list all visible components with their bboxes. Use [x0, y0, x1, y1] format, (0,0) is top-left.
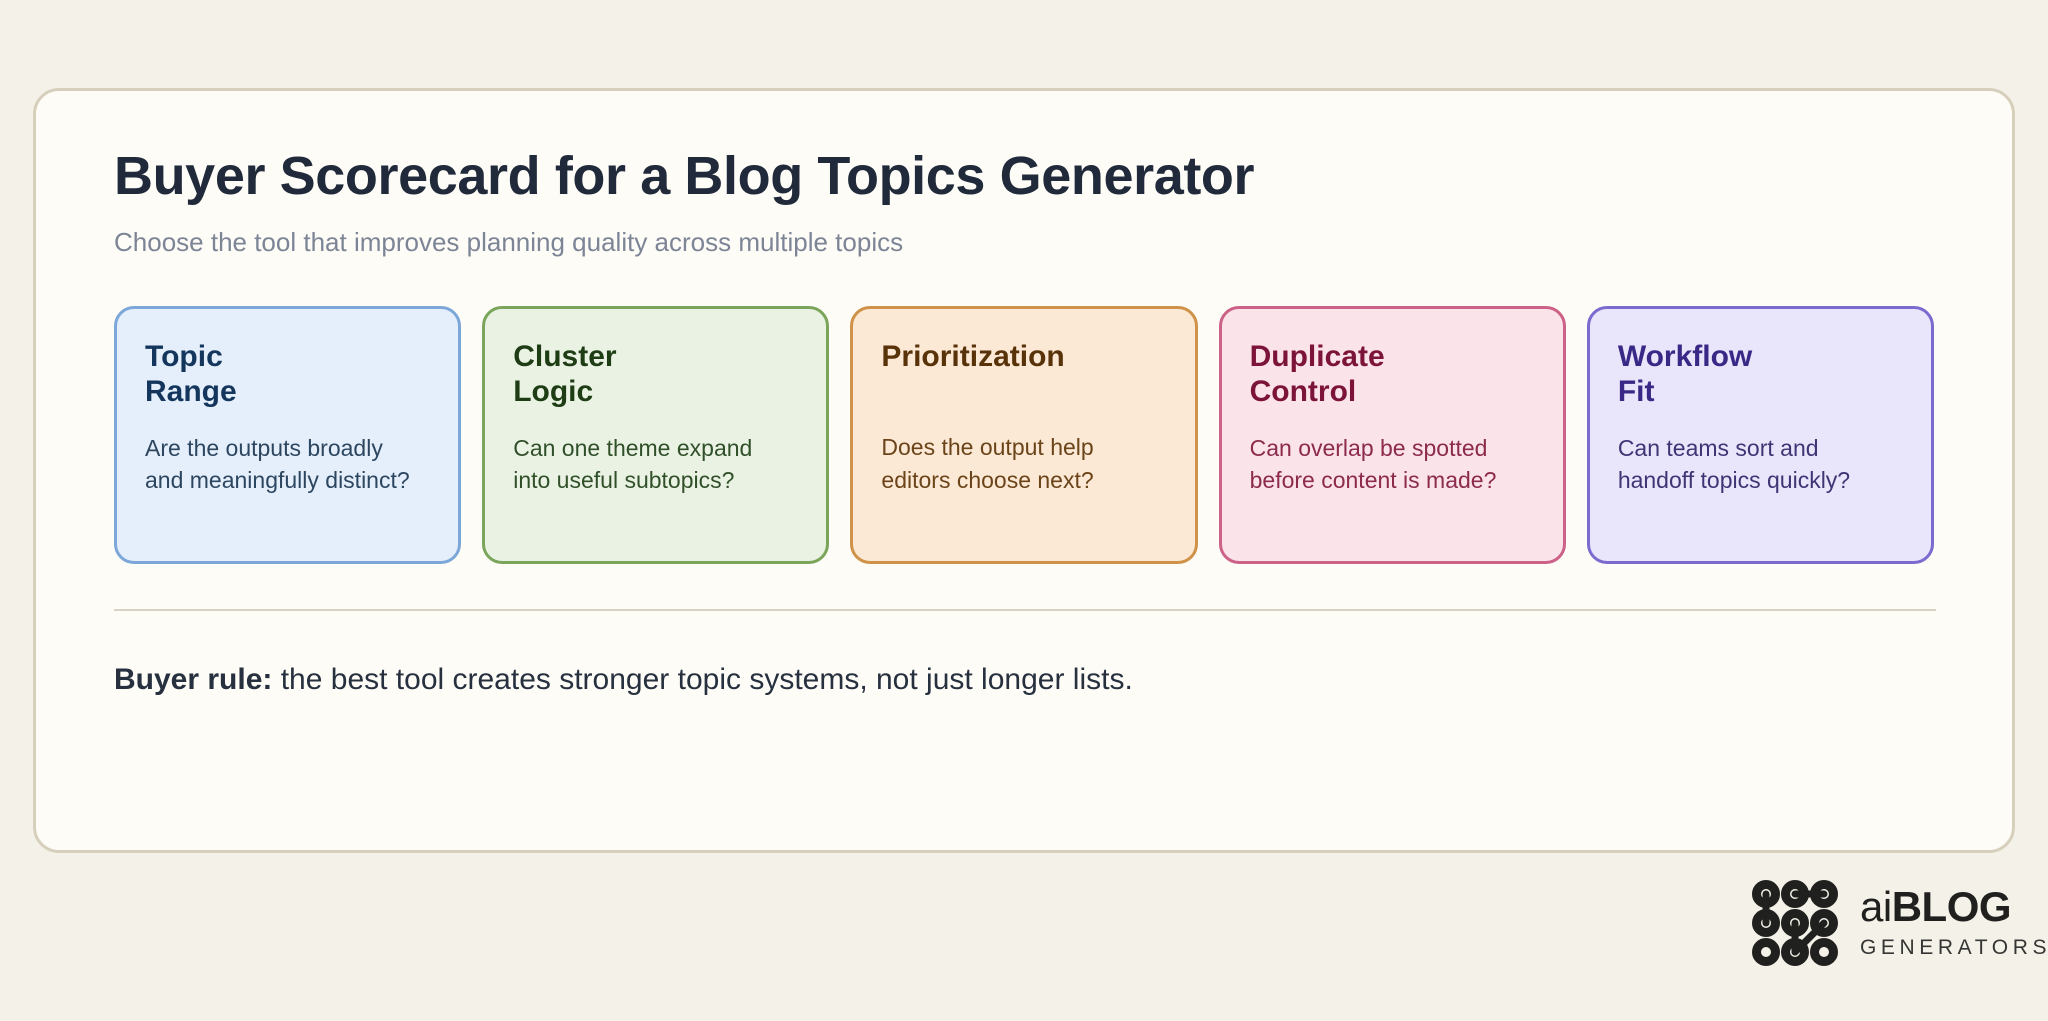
- brand-wordmark: aiBLOG GENERATORS: [1860, 886, 2048, 960]
- card-title: Workflow Fit: [1618, 339, 1903, 409]
- criteria-card-row: Topic Range Are the outputs broadly and …: [114, 306, 1934, 564]
- criteria-card-duplicate-control[interactable]: Duplicate Control Can overlap be spotted…: [1219, 306, 1566, 564]
- network-nodes-icon: [1752, 880, 1838, 966]
- card-title: Topic Range: [145, 339, 430, 409]
- card-body: Can overlap be spotted before content is…: [1250, 432, 1535, 497]
- brand-name: aiBLOG: [1860, 886, 2048, 928]
- criteria-card-topic-range[interactable]: Topic Range Are the outputs broadly and …: [114, 306, 461, 564]
- page-subtitle: Choose the tool that improves planning q…: [114, 227, 1934, 258]
- section-divider: [114, 609, 1936, 611]
- main-panel: Buyer Scorecard for a Blog Topics Genera…: [33, 88, 2015, 853]
- brand-logo: aiBLOG GENERATORS: [1752, 880, 2048, 966]
- criteria-card-cluster-logic[interactable]: Cluster Logic Can one theme expand into …: [482, 306, 829, 564]
- card-title: Cluster Logic: [513, 339, 798, 409]
- page-title: Buyer Scorecard for a Blog Topics Genera…: [114, 147, 1934, 205]
- brand-name-ai: ai: [1860, 883, 1892, 930]
- card-body: Can one theme expand into useful subtopi…: [513, 432, 798, 497]
- buyer-rule-text: the best tool creates stronger topic sys…: [272, 663, 1132, 696]
- brand-name-blog: BLOG: [1892, 883, 2011, 930]
- card-body: Can teams sort and handoff topics quickl…: [1618, 432, 1903, 497]
- buyer-rule-statement: Buyer rule: the best tool creates strong…: [114, 663, 1934, 697]
- card-title: Prioritization: [881, 339, 1166, 409]
- brand-tagline: GENERATORS: [1860, 936, 2048, 960]
- card-body: Are the outputs broadly and meaningfully…: [145, 432, 430, 497]
- card-title: Duplicate Control: [1250, 339, 1535, 409]
- panel-content: Buyer Scorecard for a Blog Topics Genera…: [36, 91, 2012, 697]
- card-body: Does the output help editors choose next…: [881, 431, 1166, 496]
- criteria-card-prioritization[interactable]: Prioritization Does the output help edit…: [850, 306, 1197, 564]
- buyer-rule-label: Buyer rule:: [114, 663, 272, 696]
- infographic-page: Buyer Scorecard for a Blog Topics Genera…: [0, 0, 2048, 1021]
- criteria-card-workflow-fit[interactable]: Workflow Fit Can teams sort and handoff …: [1587, 306, 1934, 564]
